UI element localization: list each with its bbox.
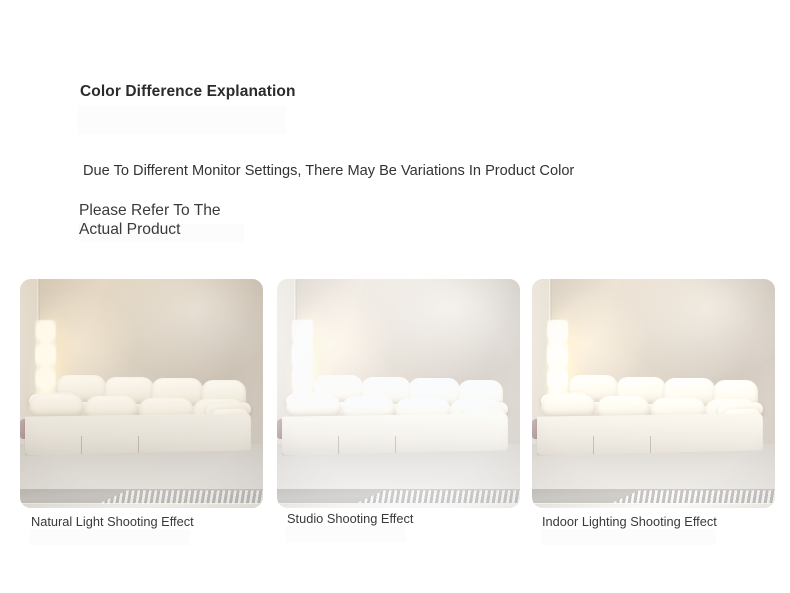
sofa-module-seam bbox=[395, 436, 396, 455]
caption-background-shade bbox=[286, 526, 406, 542]
living-room-scene bbox=[277, 279, 520, 508]
refer-to-actual-product-note: Please Refer To The Actual Product bbox=[79, 201, 254, 239]
caption-background-shade bbox=[541, 529, 716, 545]
sofa-module-seam bbox=[81, 436, 82, 455]
modular-sofa bbox=[25, 364, 251, 456]
living-room-scene bbox=[532, 279, 775, 508]
color-difference-page: Color Difference Explanation Due To Diff… bbox=[0, 0, 790, 593]
sofa-base bbox=[282, 413, 508, 455]
living-room-scene bbox=[20, 279, 263, 508]
sofa-seat-cushion bbox=[286, 394, 340, 418]
title-background-shade bbox=[78, 106, 286, 134]
modular-sofa bbox=[537, 364, 763, 456]
sofa-seat-cushion bbox=[541, 394, 595, 418]
sofa-base bbox=[25, 413, 251, 455]
sofa-base bbox=[537, 413, 763, 455]
gallery-item-indoor-lighting[interactable]: Indoor Lighting Shooting Effect bbox=[532, 279, 775, 508]
gallery-item-natural-light[interactable]: Natural Light Shooting Effect bbox=[20, 279, 263, 508]
product-photo-studio[interactable] bbox=[277, 279, 520, 508]
product-photo-natural-light[interactable] bbox=[20, 279, 263, 508]
gallery-caption-indoor-lighting: Indoor Lighting Shooting Effect bbox=[542, 513, 737, 530]
gallery-caption-studio: Studio Shooting Effect bbox=[287, 510, 472, 527]
sofa-module-seam bbox=[338, 436, 339, 455]
gallery-caption-natural-light: Natural Light Shooting Effect bbox=[31, 513, 216, 530]
lighting-comparison-gallery: Natural Light Shooting Effect bbox=[0, 279, 790, 569]
sofa-seat-cushion bbox=[29, 394, 83, 418]
sofa-module-seam bbox=[593, 436, 594, 455]
page-title: Color Difference Explanation bbox=[80, 82, 296, 102]
color-variation-subtitle: Due To Different Monitor Settings, There… bbox=[83, 162, 574, 181]
sofa-module-seam bbox=[138, 436, 139, 455]
caption-background-shade bbox=[30, 529, 190, 545]
sofa-module-seam bbox=[650, 436, 651, 455]
product-photo-indoor-lighting[interactable] bbox=[532, 279, 775, 508]
modular-sofa bbox=[282, 364, 508, 456]
gallery-item-studio[interactable]: Studio Shooting Effect bbox=[277, 279, 520, 508]
marble-floor-strip bbox=[277, 504, 520, 508]
marble-floor-strip bbox=[532, 504, 775, 508]
marble-floor-strip bbox=[20, 504, 263, 508]
